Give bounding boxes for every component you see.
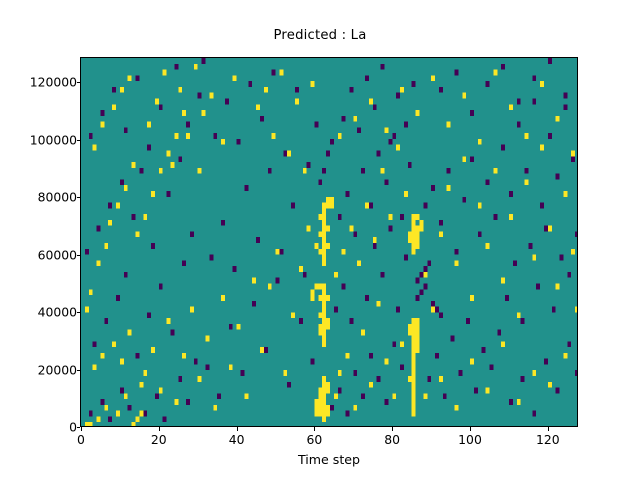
xtick-label-20: 20 xyxy=(151,432,167,447)
ytick-mark xyxy=(77,140,81,141)
xtick-label-100: 100 xyxy=(458,432,482,447)
xtick-label-80: 80 xyxy=(384,432,400,447)
xtick-label-60: 60 xyxy=(307,432,323,447)
xtick-mark xyxy=(314,427,315,431)
ytick-label-0: 0 xyxy=(69,420,77,435)
ytick-label-20000: 20000 xyxy=(38,362,77,377)
xtick-mark xyxy=(392,427,393,431)
ytick-mark xyxy=(77,82,81,83)
xtick-mark xyxy=(81,427,82,431)
ytick-mark xyxy=(77,197,81,198)
xtick-mark xyxy=(237,427,238,431)
heatmap-image xyxy=(81,58,578,427)
ytick-label-100000: 100000 xyxy=(30,132,77,147)
xtick-mark xyxy=(159,427,160,431)
heatmap-axes xyxy=(80,57,578,427)
ytick-mark xyxy=(77,312,81,313)
xtick-label-0: 0 xyxy=(77,432,85,447)
xtick-label-40: 40 xyxy=(229,432,245,447)
xtick-label-120: 120 xyxy=(536,432,560,447)
xtick-mark xyxy=(470,427,471,431)
page-title: Predicted : La xyxy=(0,28,640,43)
x-axis-label: Time step xyxy=(80,452,578,467)
ytick-label-120000: 120000 xyxy=(30,75,77,90)
ytick-label-40000: 40000 xyxy=(38,305,77,320)
ytick-label-80000: 80000 xyxy=(38,190,77,205)
ytick-mark xyxy=(77,255,81,256)
matplotlib-figure: Predicted : La 0 20 40 60 80 100 120 0 2… xyxy=(0,0,640,480)
xtick-mark xyxy=(548,427,549,431)
ytick-label-60000: 60000 xyxy=(38,247,77,262)
ytick-mark xyxy=(77,370,81,371)
